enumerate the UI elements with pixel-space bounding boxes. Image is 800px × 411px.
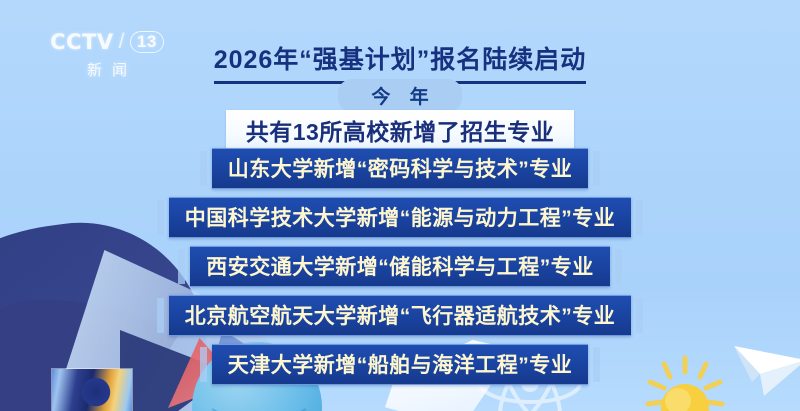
list-item-bar: 天津大学新增“船舶与海洋工程”专业 <box>212 344 589 385</box>
list-item-bar: 山东大学新增“密码科学与技术”专业 <box>212 148 589 189</box>
list-item-bar: 北京航空航天大学新增“飞行器适航技术”专业 <box>169 295 632 336</box>
headline-container: 2026年“强基计划”报名陆续启动 <box>0 40 800 84</box>
year-pill-container: 今 年 <box>0 79 800 112</box>
subtitle-container: 共有13所高校新增了招生专业 <box>0 110 800 150</box>
subtitle-banner: 共有13所高校新增了招生专业 <box>226 110 575 150</box>
page-title-text: 2026年“强基计划”报名陆续启动 <box>214 46 587 74</box>
list-item: 天津大学新增“船舶与海洋工程”专业 <box>0 344 800 385</box>
list-item: 中国科学技术大学新增“能源与动力工程”专业 <box>0 197 800 238</box>
university-list: 山东大学新增“密码科学与技术”专业 中国科学技术大学新增“能源与动力工程”专业 … <box>0 148 800 393</box>
broadcast-graphic: CCTV / 13 新闻 2026年“强基计划”报名陆续启动 今 年 共有13所… <box>0 0 800 411</box>
list-item-bar: 西安交通大学新增“储能科学与工程”专业 <box>190 246 610 287</box>
list-item-bar: 中国科学技术大学新增“能源与动力工程”专业 <box>169 197 632 238</box>
list-item: 山东大学新增“密码科学与技术”专业 <box>0 148 800 189</box>
list-item: 北京航空航天大学新增“飞行器适航技术”专业 <box>0 295 800 336</box>
year-badge: 今 年 <box>338 79 461 112</box>
list-item: 西安交通大学新增“储能科学与工程”专业 <box>0 246 800 287</box>
page-title: 2026年“强基计划”报名陆续启动 <box>214 40 587 84</box>
